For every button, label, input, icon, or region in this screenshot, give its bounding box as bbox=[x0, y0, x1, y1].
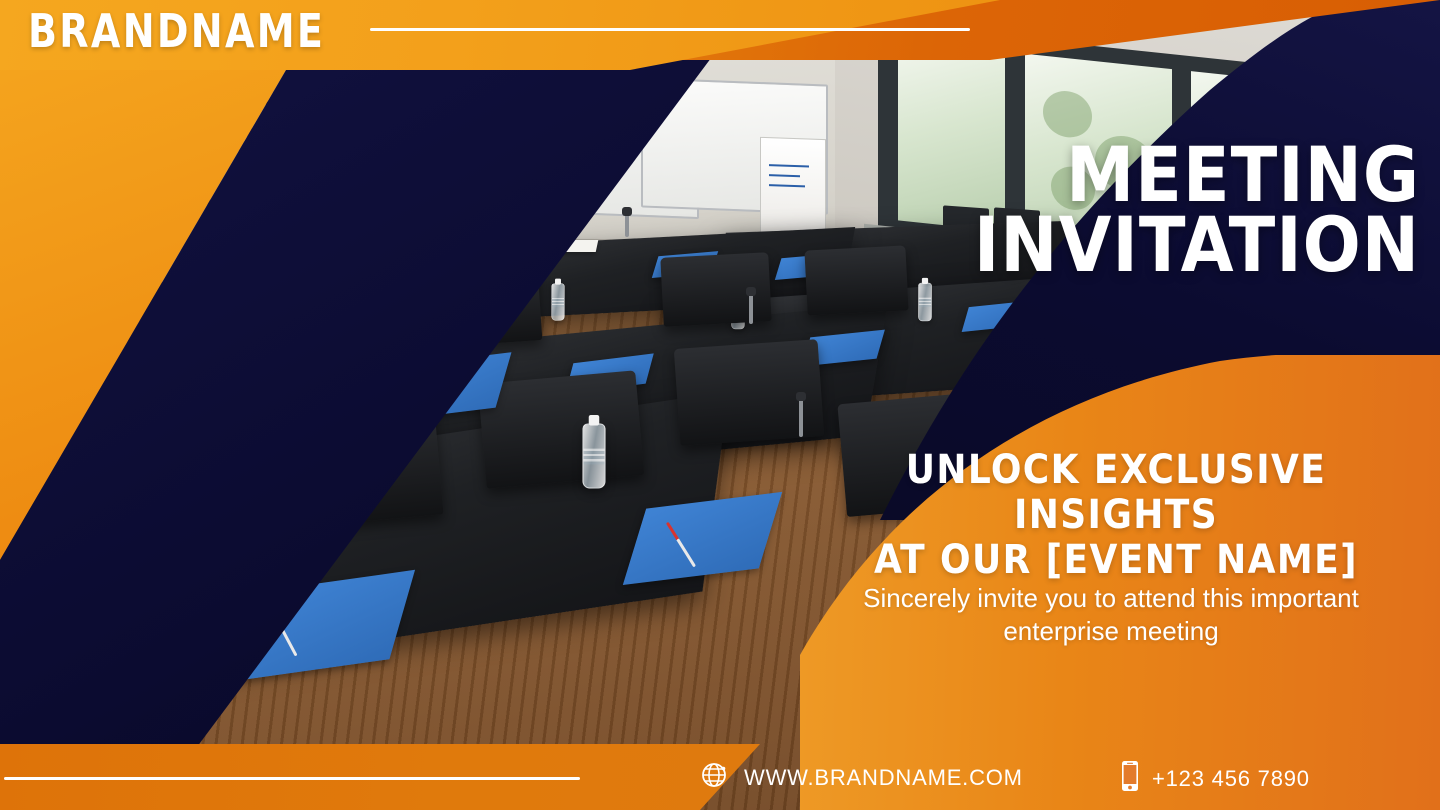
footer-divider-line bbox=[4, 777, 580, 780]
headline-line-1: UNLOCK EXCLUSIVE INSIGHTS bbox=[906, 447, 1326, 538]
phone-icon bbox=[1120, 760, 1140, 798]
brand-logo-text: BRANDNAME bbox=[28, 8, 325, 54]
globe-icon bbox=[700, 760, 730, 796]
phone-contact[interactable]: +123 456 7890 bbox=[1120, 760, 1310, 798]
title-line-2: INVITATION bbox=[800, 210, 1420, 280]
phone-label: +123 456 7890 bbox=[1152, 766, 1310, 792]
body-line-1: Sincerely invite you to attend this impo… bbox=[863, 583, 1359, 613]
body-copy: Sincerely invite you to attend this impo… bbox=[806, 582, 1416, 649]
headline: UNLOCK EXCLUSIVE INSIGHTS AT OUR [EVENT … bbox=[816, 448, 1416, 582]
headline-line-2: AT OUR [EVENT NAME] bbox=[816, 538, 1416, 583]
body-line-2: enterprise meeting bbox=[806, 615, 1416, 648]
meeting-invitation-poster: BRANDNAME MEETING INVITATION UNLOCK EXCL… bbox=[0, 0, 1440, 810]
page-title: MEETING INVITATION bbox=[800, 140, 1420, 280]
website-label: WWW.BRANDNAME.COM bbox=[744, 765, 1023, 791]
website-contact[interactable]: WWW.BRANDNAME.COM bbox=[700, 760, 1023, 796]
header-divider-line bbox=[370, 28, 970, 31]
